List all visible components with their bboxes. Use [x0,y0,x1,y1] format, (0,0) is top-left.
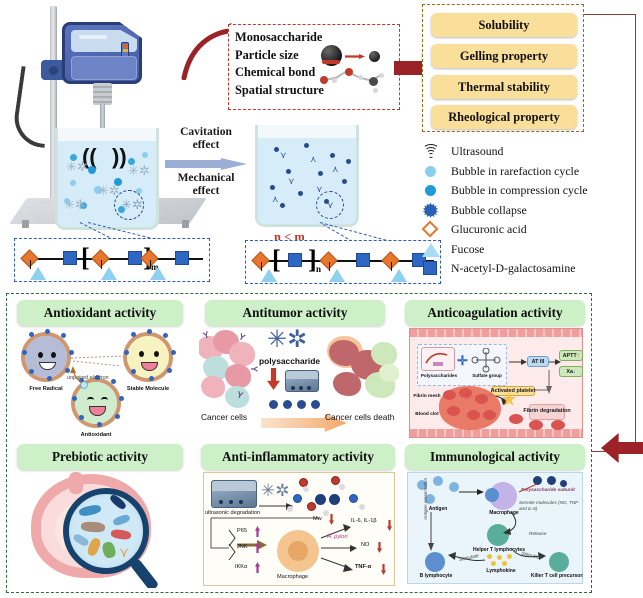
stand-foot-icon [182,220,189,228]
property-pill-rheological: Rheological property [431,105,577,129]
zoom-circle-after: ⋎ [316,191,344,219]
tag-iixa: Xa↓ [559,366,583,377]
monosaccharide-item-list: Monosaccharide Particle size Chemical bo… [235,29,324,99]
figure-canvas: )) )) ✳✲ ✳✲ ✳✲ ✳✲ ✳✲ Cavitation effect [0,0,643,598]
legend-label: Bubble in rarefaction cycle [451,164,579,179]
activity-cell-anti-inflammatory: Anti-inflammatory activity ultrasonic de… [199,442,399,590]
ultrasonic-generator-icon [62,22,142,84]
caption-ikka: IKKα [235,564,247,570]
legend-label: N-acetyl-D-galactosamine [451,261,575,276]
mechanical-effect-label: Mechanical effect [158,172,254,198]
generator-screen-line-icon [79,35,107,39]
bubble-rarefaction-icon [420,163,442,180]
n-acetyl-d-galactosamine-icon [420,260,442,277]
activity-cell-anticoagulation: Anticoagulation activity Polysaccharides… [401,298,589,442]
mono-item: Chemical bond [235,64,324,82]
legend-label: Bubble in compression cycle [451,183,588,198]
polysaccharide-fragment-icon: ⋏ [310,155,317,164]
caption-blood-clot: Blood clot [413,412,441,417]
activity-art-anticoagulation: Polysaccharides ✛ Sulfate group [409,328,583,440]
generator-panel-icon [71,56,137,80]
mono-item: Monosaccharide [235,29,324,47]
magnifier-handle-icon [130,558,160,588]
tag-label: APTT [563,353,577,359]
large-particle-icon [321,45,342,66]
stand-foot-icon [22,220,29,228]
zoom-circle-before: ✳✲ [114,190,144,220]
tag-activated-platelet: Activated platelet [491,386,535,396]
polysaccharide-chain-after: [ ] n [245,240,441,284]
properties-box: Solubility Gelling property Thermal stab… [422,4,584,132]
mono-item: Spatial structure [235,82,324,100]
hydrogen-atom-icon [373,88,378,93]
activity-cell-prebiotic: Prebiotic activity ⋎ [11,442,197,590]
macrophage-icon [277,530,319,572]
legend-label: Bubble collapse [451,203,527,218]
activity-title-anti-inflammatory: Anti-inflammatory activity [201,444,395,470]
activity-art-anti-inflammatory: ultrasonic degradation ✳✲ [203,472,395,588]
tag-fibrin-degradation: Fibrin degradation [529,404,565,420]
polysaccharide-fragment-icon: ⋏ [332,165,339,174]
ultrasound-icon [420,143,442,160]
caption-polysaccharide: polysaccharide [259,356,320,366]
probe-horn-collar-icon [93,83,112,105]
activity-art-antioxidant: Free Radical Stable Molecule [11,328,197,440]
cavitation-effect-label: Cavitation effect [158,126,254,152]
activity-cell-antitumor: Antitumor activity Y Y Y Y Cancer cells … [199,298,399,442]
hydrogen-atom-icon [379,73,384,78]
tag-label: Xa [566,369,573,375]
caption-tnf-alpha: TNF-α [355,564,371,570]
polysaccharide-chain-before: [ ] m [14,238,210,282]
activity-art-antitumor: Y Y Y Y Cancer cells ✳✲ polysaccharide [199,328,399,440]
beaker-before: )) )) ✳✲ ✳✲ ✳✲ ✳✲ ✳✲ [55,128,159,230]
fucose-icon [420,241,442,258]
activity-art-immunological: Antigen Macrophage Polysaccharide subuni… [407,472,583,586]
ultrasound-wave-icon: )) [112,146,127,168]
bubble-icon [88,166,96,174]
sonicator-icon [285,370,319,392]
caption-p65: P65 [237,528,247,534]
activity-title-anticoagulation: Anticoagulation activity [405,300,585,326]
chain-subscript-n: n [316,264,321,274]
antioxidant-transfer-arrows [11,328,197,440]
bioactivities-panel: Antioxidant activity Free Radical [6,293,592,593]
caption-macrophage: Macrophage [277,574,308,580]
immunological-arrows [407,472,583,584]
bubble-collapse-icon [420,202,442,219]
activity-title-immunological: Immunological activity [405,444,585,470]
caption-jnk: JNK [237,544,248,550]
caption-fibrin-mesh: Fibrin mesh [413,394,441,399]
caption-il6-il1b: IL-6, IL-1β [351,518,377,524]
beaker-after: ⋎ ⋏ ⋎ ⋏ ⋎ ⋏ ⋎ [255,125,359,227]
caption-no: NO [361,542,369,548]
property-pill-thermal: Thermal stability [431,75,577,99]
down-arrow-icon [267,368,280,390]
carbon-atom-icon [369,77,378,86]
property-pill-solubility: Solubility [431,13,577,37]
activity-cell-immunological: Immunological activity Antigen Macrophag… [401,442,589,590]
bubble-icon [70,180,76,186]
caption-cancer-cells: Cancer cells [201,412,247,422]
polysaccharide-coil-icon: ✳✲ [267,328,307,352]
glucuronic-acid-icon [420,221,442,238]
tag-at-iii: AT III [527,356,549,367]
tag-aptt: APTT↑ [559,350,583,361]
hydrogen-atom-icon [358,75,363,80]
oxygen-atom-icon [320,76,328,84]
bubble-icon [142,152,148,158]
bubble-compression-icon [420,182,442,199]
hydrogen-atom-icon [332,78,337,83]
activity-cell-antioxidant: Antioxidant activity Free Radical [11,298,197,442]
polysaccharide-coil-icon: ✳✲ [64,198,86,211]
caption-antigen-presentation: Antigen presentation [423,478,428,520]
particle-size-graphic [317,43,395,99]
process-section: )) )) ✳✲ ✳✲ ✳✲ ✳✲ ✳✲ Cavitation effect [0,0,643,292]
polysaccharide-fragment-icon: ⋎ [288,177,295,186]
legend-label: Glucuronic acid [451,222,527,237]
polysaccharide-coil-icon: ✳✲ [66,160,88,173]
polysaccharide-fragment-icon: ⋏ [272,195,279,204]
monosaccharide-changes-box: Monosaccharide Particle size Chemical bo… [228,24,400,110]
legend-label: Ultrasound [451,144,503,159]
size-reduction-arrow-icon [345,54,365,59]
caption-mw: Mw [313,516,322,522]
property-pill-gelling: Gelling property [431,44,577,68]
legend-label: Fucose [451,242,484,257]
polysaccharide-coil-icon: ✳✲ [128,164,150,177]
polysaccharide-fragment-icon: ⋎ [280,151,287,160]
activity-art-prebiotic: ⋎ [11,472,197,588]
activity-title-antitumor: Antitumor activity [205,300,385,326]
small-particle-icon [369,51,380,62]
activity-title-antioxidant: Antioxidant activity [17,300,183,326]
caption-h-pylori: H. pylori [327,534,348,540]
caption-cancer-cells-death: Cancer cells death [325,412,394,422]
activity-title-prebiotic: Prebiotic activity [17,444,183,470]
oxygen-atom-icon [345,68,353,76]
mono-item: Particle size [235,47,324,65]
